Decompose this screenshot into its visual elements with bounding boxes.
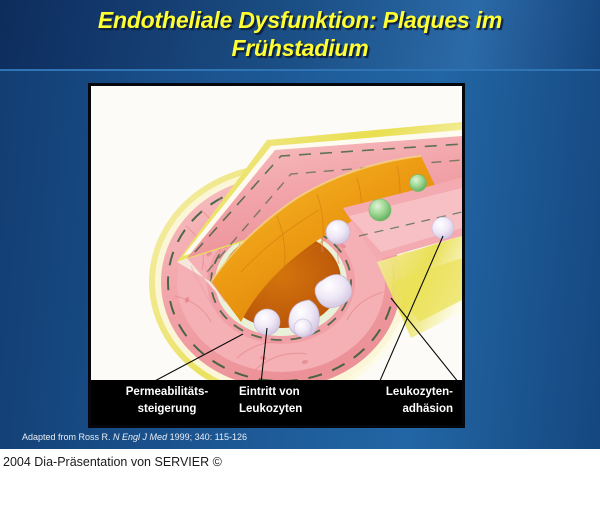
citation-journal: N Engl J Med bbox=[113, 432, 167, 442]
artery-figure-svg bbox=[91, 86, 462, 383]
illustration-panel: Permeabilitäts- steigerung Eintritt von … bbox=[88, 83, 465, 428]
citation-prefix: Adapted from Ross R. bbox=[22, 432, 113, 442]
figure-label-permeability: Permeabilitäts- steigerung bbox=[107, 384, 227, 418]
artery-cross-section-illustration bbox=[91, 86, 462, 383]
presentation-slide: Endotheliale Dysfunktion: Plaques im Frü… bbox=[0, 0, 600, 449]
figure-label-leukocyte-entry: Eintritt von Leukozyten bbox=[239, 384, 349, 418]
presentation-footer: 2004 Dia-Präsentation von SERVIER © bbox=[3, 455, 222, 469]
slide-title: Endotheliale Dysfunktion: Plaques im Frü… bbox=[0, 6, 600, 62]
citation-suffix: 1999; 340: 115-126 bbox=[167, 432, 247, 442]
source-citation: Adapted from Ross R. N Engl J Med 1999; … bbox=[22, 432, 247, 442]
figure-label-band: Permeabilitäts- steigerung Eintritt von … bbox=[91, 380, 462, 425]
title-band: Endotheliale Dysfunktion: Plaques im Frü… bbox=[0, 0, 600, 71]
figure-label-leukocyte-adhesion: Leukozyten- adhäsion bbox=[353, 384, 453, 418]
